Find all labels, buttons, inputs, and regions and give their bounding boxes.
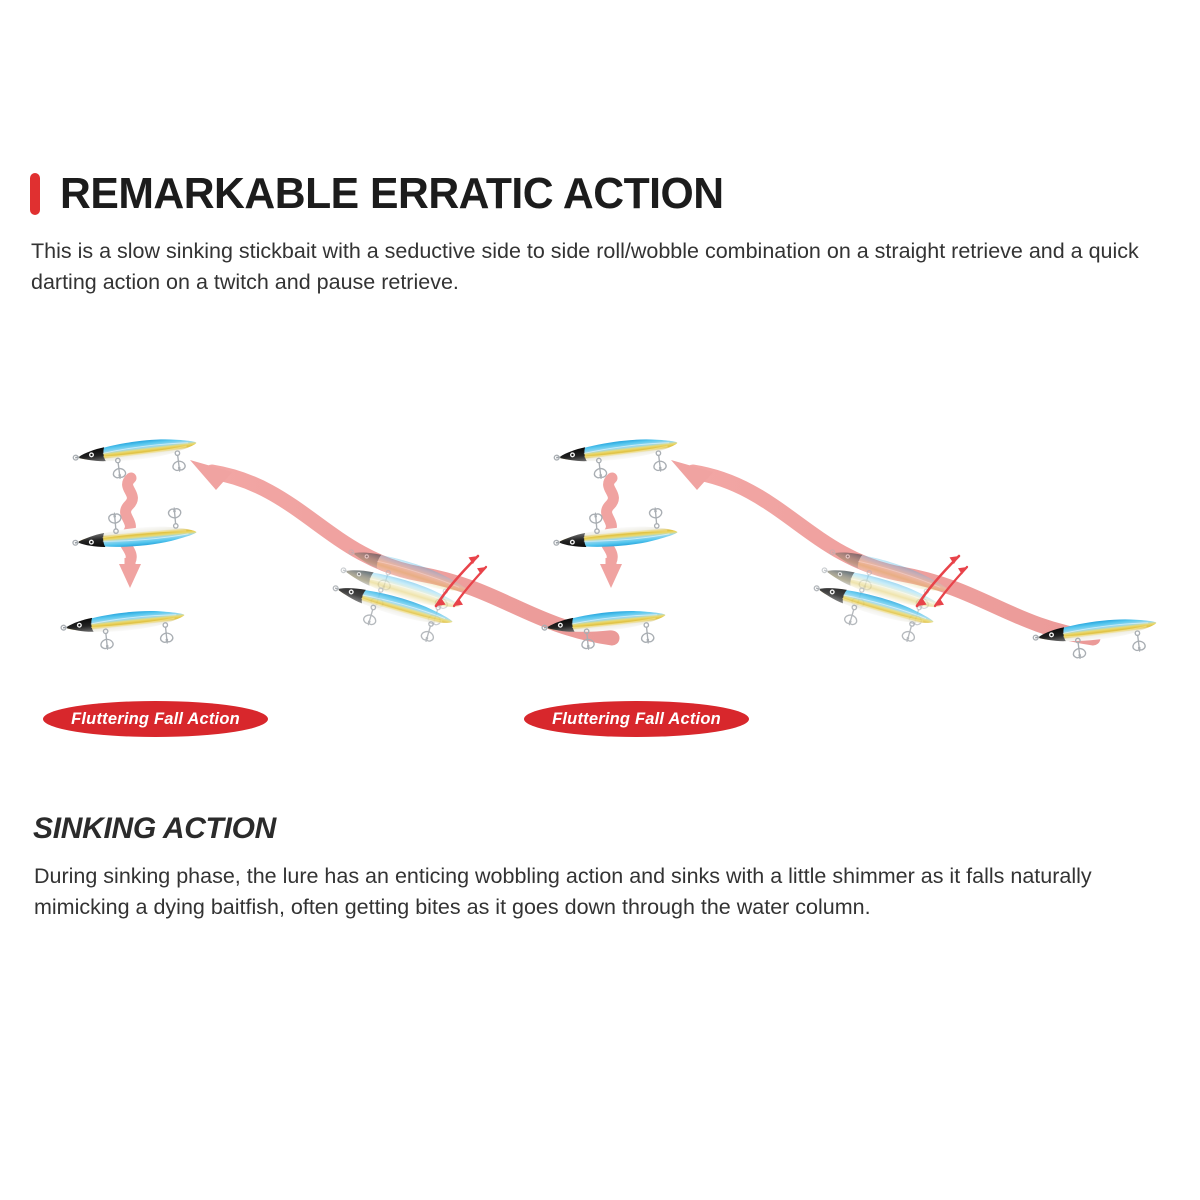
sequence-right	[541, 434, 1159, 664]
fluttering-fall-badge-left: Fluttering Fall Action	[43, 701, 268, 737]
fluttering-fall-badge-right: Fluttering Fall Action	[524, 701, 749, 737]
sequence-left	[60, 434, 612, 654]
fall-column-left	[60, 434, 199, 654]
badge-label: Fluttering Fall Action	[552, 710, 721, 729]
title-row: REMARKABLE ERRATIC ACTION	[30, 168, 1180, 220]
dart-cluster-left	[326, 543, 486, 646]
intro-paragraph: This is a slow sinking stickbait with a …	[31, 236, 1171, 297]
sinking-action-paragraph: During sinking phase, the lure has an en…	[34, 861, 1174, 922]
section-title: SINKING ACTION	[33, 812, 1183, 845]
lure-bottom-left	[60, 606, 187, 653]
fall-column-right	[541, 434, 680, 654]
red-accent-bar	[30, 173, 40, 215]
dart-cluster-right	[807, 543, 967, 646]
sinking-action-block: SINKING ACTION During sinking phase, the…	[33, 812, 1183, 922]
page-title: REMARKABLE ERRATIC ACTION	[60, 172, 724, 216]
lure-bottom-right	[541, 606, 668, 653]
lure-middle-right	[552, 506, 678, 551]
badge-label: Fluttering Fall Action	[71, 710, 240, 729]
header-block: REMARKABLE ERRATIC ACTION This is a slow…	[30, 168, 1180, 297]
lure-middle-left	[71, 506, 197, 551]
